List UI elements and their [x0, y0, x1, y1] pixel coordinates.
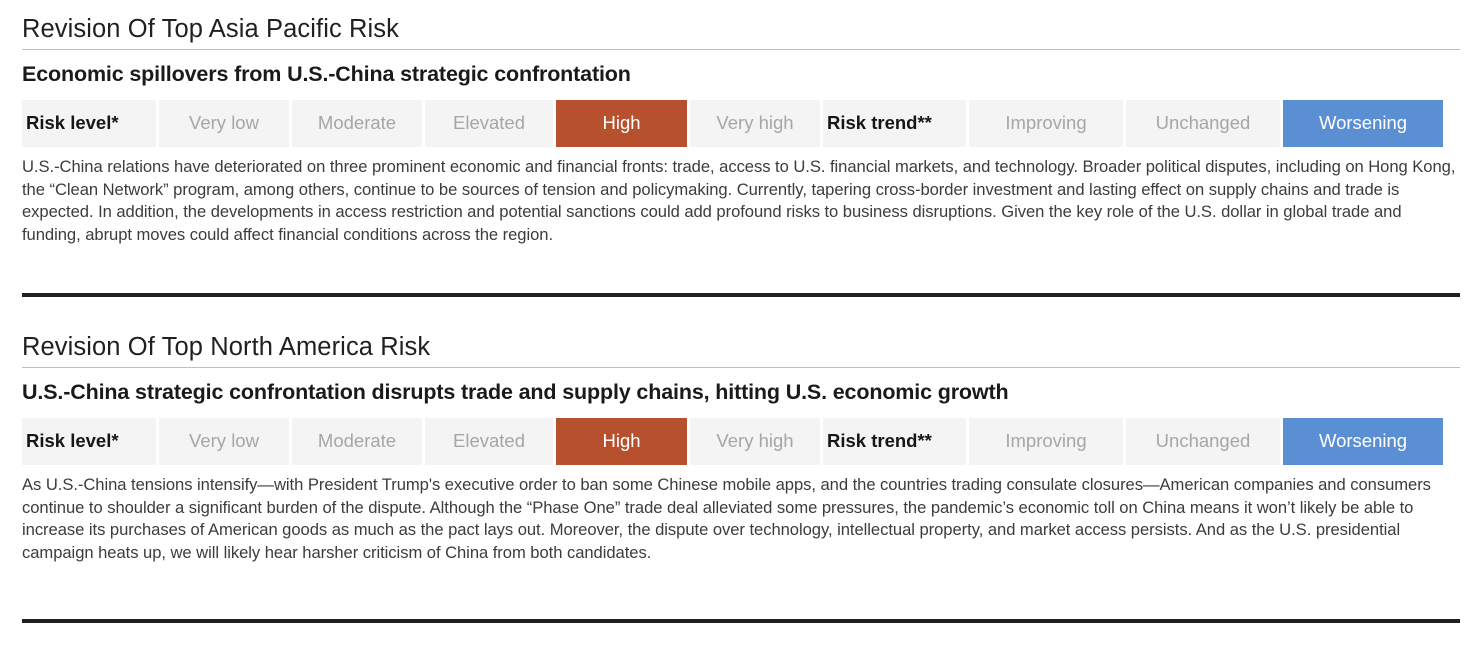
risk-option-moderate[interactable]: Moderate	[292, 418, 422, 465]
section-north-america: Revision Of Top North America Risk U.S.-…	[0, 332, 1482, 564]
risk-option-very-high[interactable]: Very high	[690, 418, 820, 465]
trend-option-improving[interactable]: Improving	[969, 418, 1123, 465]
section-divider-top	[22, 293, 1460, 297]
risk-option-moderate[interactable]: Moderate	[292, 100, 422, 147]
risk-option-high-selected[interactable]: High	[556, 418, 687, 465]
risk-option-very-high[interactable]: Very high	[690, 100, 820, 147]
rating-row: Risk level* Very low Moderate Elevated H…	[22, 418, 1460, 465]
risk-option-very-low[interactable]: Very low	[159, 100, 289, 147]
risk-report-page: Revision Of Top Asia Pacific Risk Econom…	[0, 0, 1482, 646]
risk-level-label: Risk level*	[22, 418, 156, 465]
section-headline: U.S.-China strategic confrontation disru…	[22, 368, 1460, 405]
section-headline: Economic spillovers from U.S.-China stra…	[22, 50, 1460, 87]
section-asia-pacific: Revision Of Top Asia Pacific Risk Econom…	[0, 14, 1482, 246]
risk-option-high-selected[interactable]: High	[556, 100, 687, 147]
section-divider-bottom	[22, 619, 1460, 623]
risk-level-label: Risk level*	[22, 100, 156, 147]
risk-option-very-low[interactable]: Very low	[159, 418, 289, 465]
trend-option-improving[interactable]: Improving	[969, 100, 1123, 147]
section-kicker: Revision Of Top Asia Pacific Risk	[22, 14, 1460, 50]
trend-option-worsening-selected[interactable]: Worsening	[1283, 418, 1443, 465]
risk-trend-label: Risk trend**	[823, 100, 966, 147]
section-body-text: U.S.-China relations have deteriorated o…	[22, 156, 1460, 246]
risk-option-elevated[interactable]: Elevated	[425, 100, 553, 147]
trend-option-worsening-selected[interactable]: Worsening	[1283, 100, 1443, 147]
risk-trend-label: Risk trend**	[823, 418, 966, 465]
trend-option-unchanged[interactable]: Unchanged	[1126, 418, 1280, 465]
risk-option-elevated[interactable]: Elevated	[425, 418, 553, 465]
section-kicker: Revision Of Top North America Risk	[22, 332, 1460, 368]
trend-option-unchanged[interactable]: Unchanged	[1126, 100, 1280, 147]
rating-row: Risk level* Very low Moderate Elevated H…	[22, 100, 1460, 147]
section-body-text: As U.S.-China tensions intensify—with Pr…	[22, 474, 1460, 564]
